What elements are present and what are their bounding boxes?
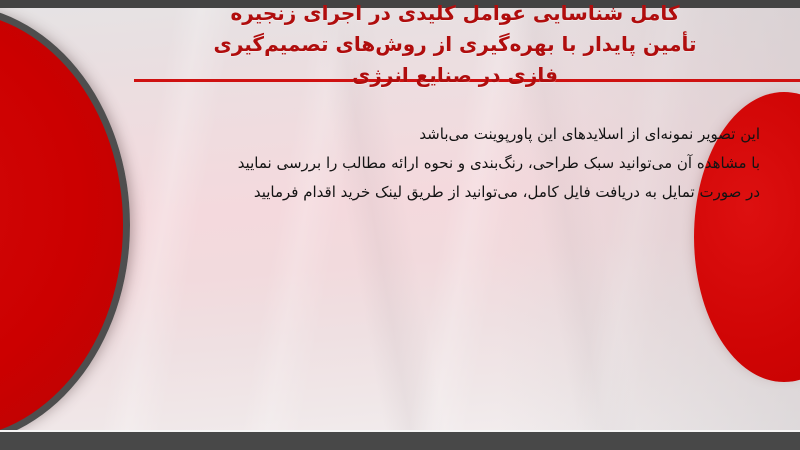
title-line-1: کامل شناسایی عوامل کلیدی در اجرای زنجیره [150,0,760,29]
slide-body-text: این تصویر نمونه‌ای از اسلایدهای این پاور… [140,120,760,207]
body-line-1: این تصویر نمونه‌ای از اسلایدهای این پاور… [140,120,760,149]
presentation-slide: کامل شناسایی عوامل کلیدی در اجرای زنجیره… [0,0,800,450]
title-line-3: فازی در صنایع انرژی [150,60,760,91]
body-line-3: در صورت تمایل به دریافت فایل کامل، می‌تو… [140,178,760,207]
title-line-2: تأمین پایدار با بهره‌گیری از روش‌های تصم… [150,29,760,60]
bottom-dark-bar [0,430,800,450]
slide-title: کامل شناسایی عوامل کلیدی در اجرای زنجیره… [150,0,760,91]
body-line-2: با مشاهده آن می‌توانید سبک طراحی، رنگ‌بن… [140,149,760,178]
